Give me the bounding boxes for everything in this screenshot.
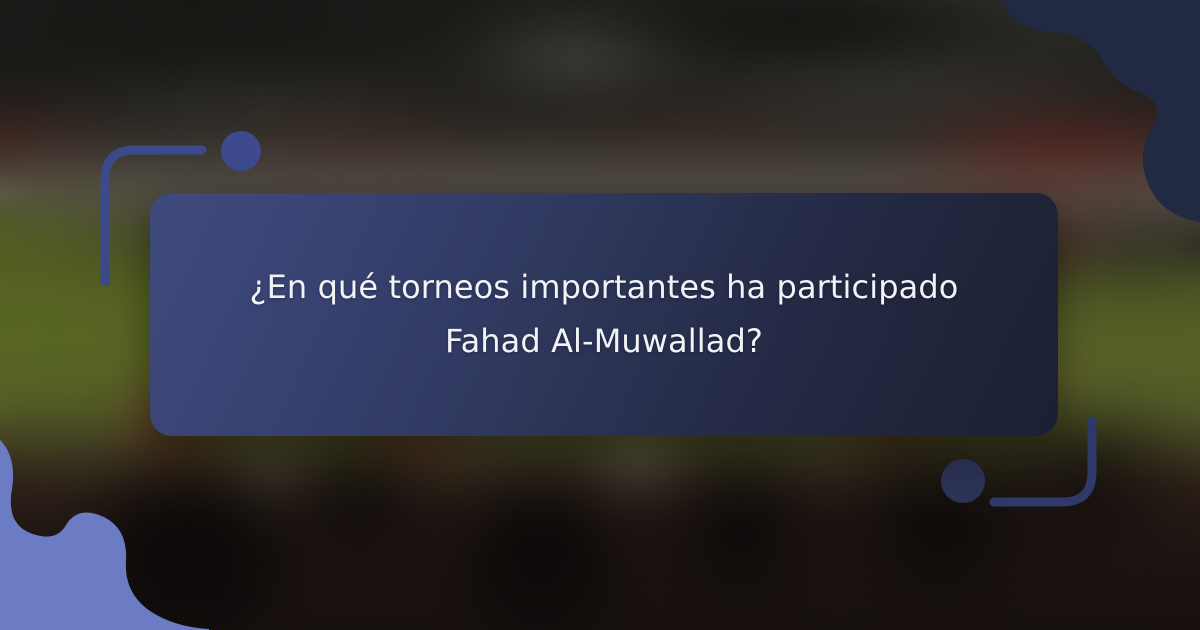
question-card-graphic: ¿En qué torneos importantes ha participa… (0, 0, 1200, 630)
question-text: ¿En qué torneos importantes ha participa… (214, 261, 994, 369)
blob-shape-top-right-icon (966, 0, 1200, 223)
accent-dot-top-left-icon (221, 131, 261, 171)
accent-dot-bottom-right-icon (941, 459, 985, 503)
blob-shape-bottom-left-icon (0, 433, 209, 630)
question-card: ¿En qué torneos importantes ha participa… (150, 193, 1058, 436)
